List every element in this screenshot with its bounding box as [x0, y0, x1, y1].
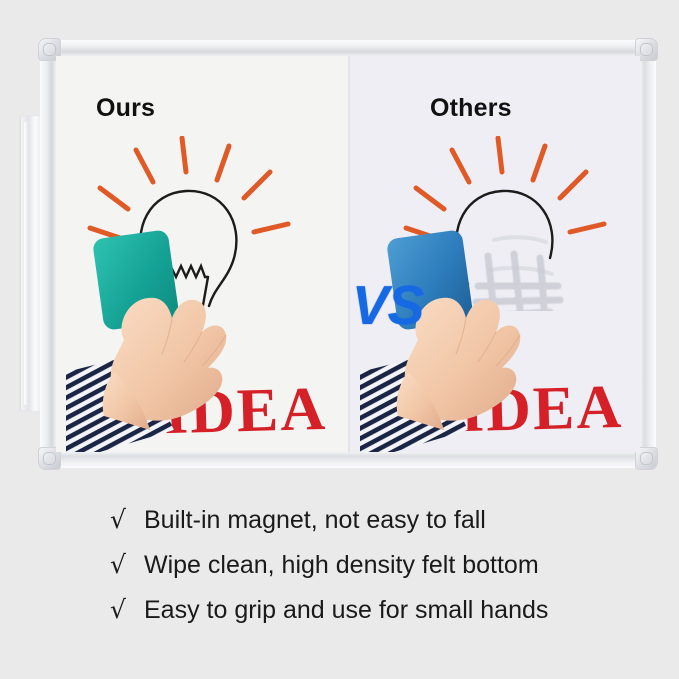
feature-item: √ Built-in magnet, not easy to fall: [110, 505, 610, 550]
check-mark-icon: √: [110, 595, 144, 624]
comparison-panel-others: Others: [350, 56, 640, 452]
versus-badge: VS: [352, 278, 423, 333]
feature-item: √ Easy to grip and use for small hands: [110, 595, 610, 640]
check-mark-icon: √: [110, 505, 144, 534]
feature-item: √ Wipe clean, high density felt bottom: [110, 550, 610, 595]
frame-rail-left: [40, 44, 57, 464]
feature-list: √ Built-in magnet, not easy to fall √ Wi…: [110, 505, 610, 640]
frame-rail-top: [44, 40, 652, 57]
frame-rail-bottom: [44, 451, 652, 468]
feature-label: Wipe clean, high density felt bottom: [144, 551, 539, 580]
comparison-panel-ours: Ours: [56, 56, 348, 452]
panel-divider: [348, 56, 350, 452]
board-surface: Ours: [56, 56, 640, 452]
hand-with-eraser-ours: [66, 222, 316, 452]
side-hanging-bracket-icon: [21, 116, 40, 411]
hand-with-eraser-others: [360, 222, 610, 452]
feature-label: Built-in magnet, not easy to fall: [144, 506, 486, 535]
check-mark-icon: √: [110, 550, 144, 579]
feature-label: Easy to grip and use for small hands: [144, 596, 548, 625]
panel-title-ours: Ours: [96, 94, 155, 123]
frame-rail-right: [639, 44, 656, 464]
panel-title-others: Others: [430, 94, 512, 123]
whiteboard: Ours: [38, 38, 658, 470]
